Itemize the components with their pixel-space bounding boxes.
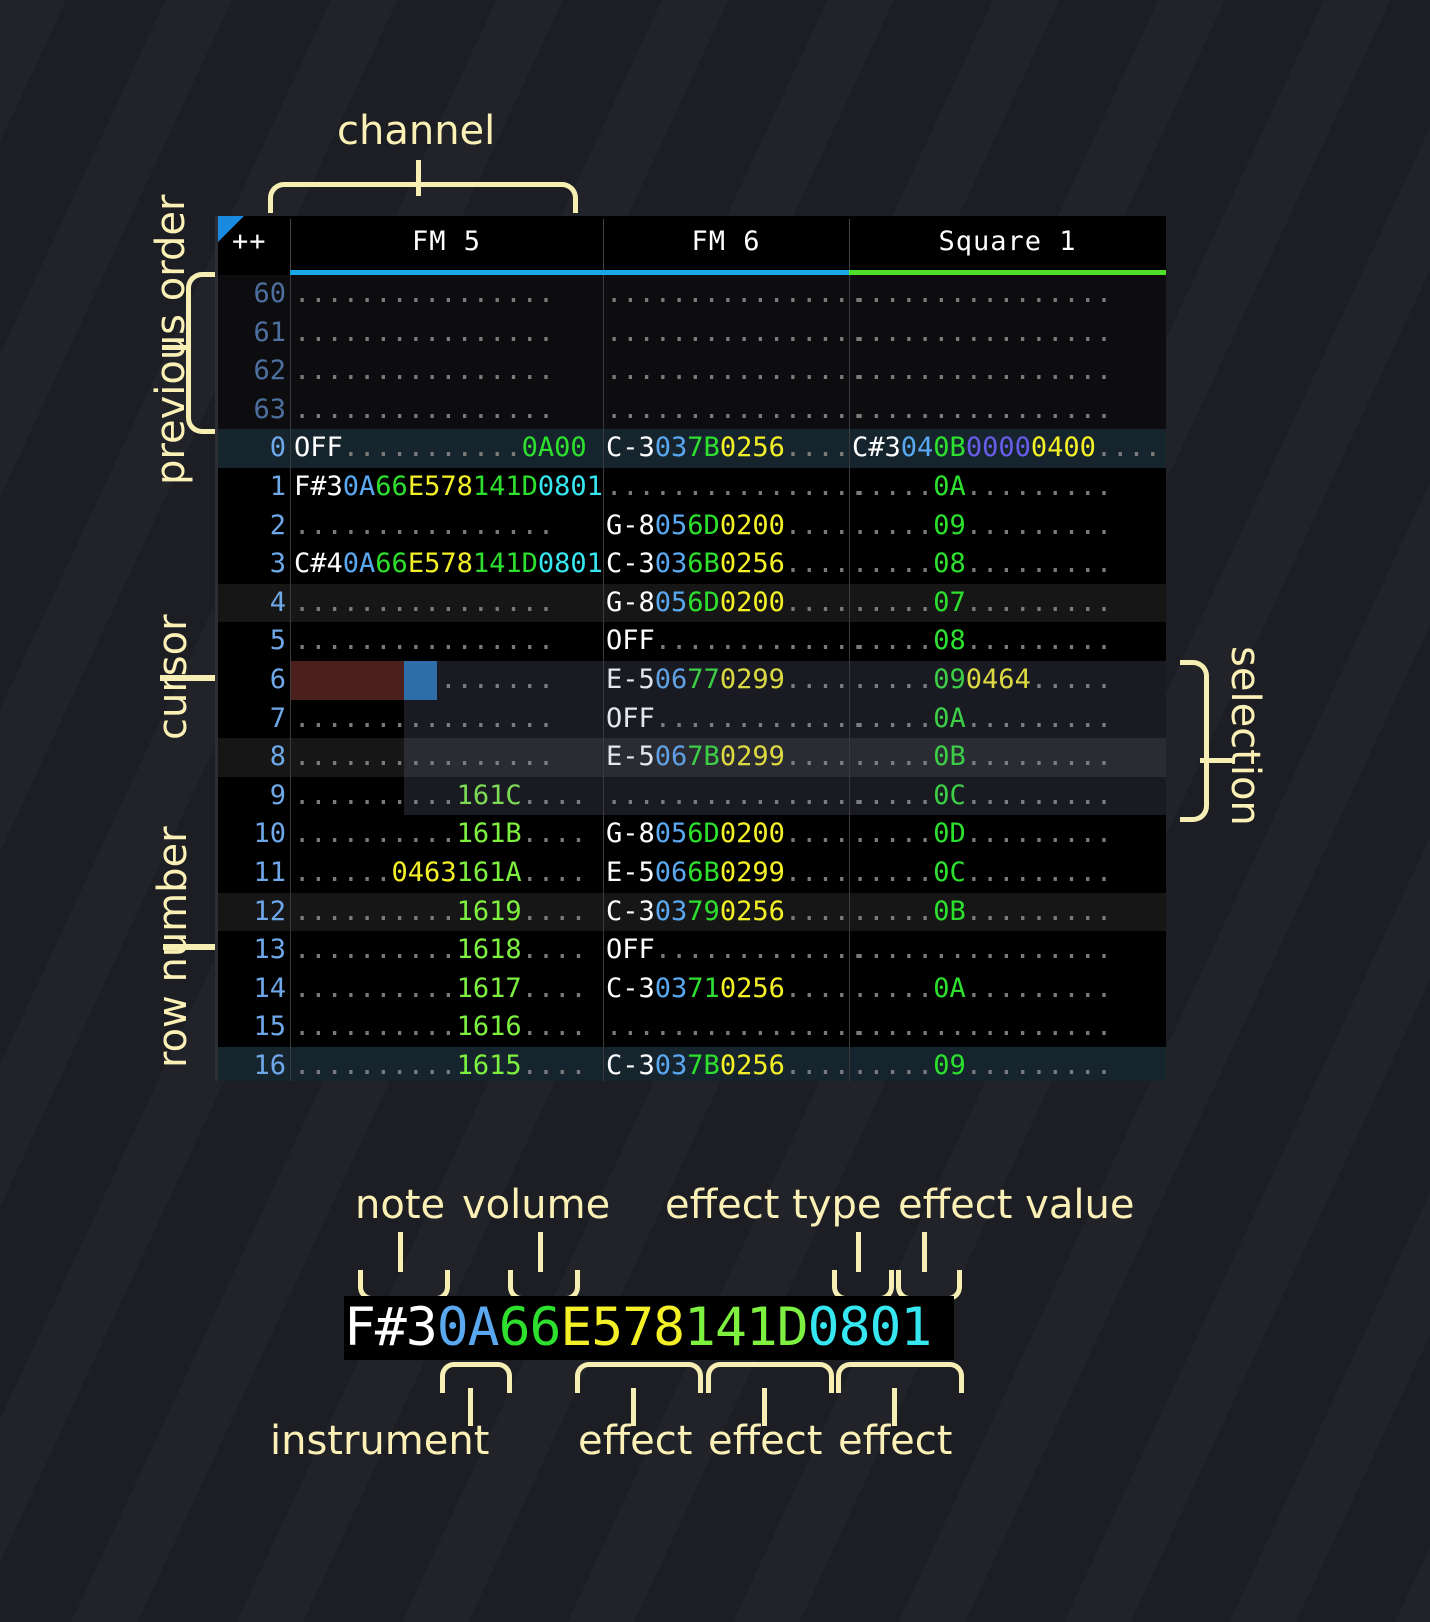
table-row[interactable]: 63......................................… (218, 391, 1166, 430)
pattern-segment: C-3 (606, 548, 655, 579)
pattern-cell-fm6[interactable]: ................ (606, 275, 866, 314)
row-number-cell: 9 (218, 777, 286, 816)
pattern-segment: 0256 (720, 896, 785, 927)
pattern-segment: 79 (687, 896, 720, 927)
pattern-cell-fm6[interactable]: ................ (606, 314, 866, 353)
pattern-cell-sq1[interactable]: .....08......... (852, 545, 1112, 584)
row-number-cell: 11 (218, 854, 286, 893)
pattern-segment: 05 (655, 587, 688, 618)
table-row[interactable]: 4................G-8056D0200.........07.… (218, 584, 1166, 623)
pattern-cell-sq1[interactable]: ................ (852, 314, 1112, 353)
pattern-segment: 6B (687, 548, 720, 579)
legend-brace-effect3 (836, 1362, 964, 1393)
legend-label-note: note (355, 1182, 445, 1228)
pattern-segment: 6D (687, 818, 720, 849)
pattern-segment: 07 (933, 587, 966, 618)
pattern-segment: ................ (852, 394, 1112, 425)
pattern-cell-fm6[interactable]: OFF............. (606, 622, 866, 661)
pattern-segment: ................ (606, 278, 866, 309)
pattern-segment: ................ (852, 355, 1112, 386)
pattern-segment: ..... (852, 471, 933, 502)
pattern-segment: .... (522, 896, 587, 927)
pattern-segment: ................ (294, 278, 554, 309)
pattern-segment: 141D (473, 548, 538, 579)
pattern-cell-fm6[interactable]: ................ (606, 1008, 866, 1047)
legend-label-effect3: effect (838, 1418, 952, 1464)
pattern-segment: .... (785, 432, 850, 463)
table-row[interactable]: 2................G-8056D0200.........09.… (218, 507, 1166, 546)
pattern-cell-fm5[interactable]: ................ (294, 314, 554, 353)
pattern-segment: 09 (933, 510, 966, 541)
pattern-segment: ..... (852, 1050, 933, 1081)
pattern-segment: ............. (655, 934, 866, 965)
pattern-segment: 0A (933, 471, 966, 502)
pattern-cell-fm5[interactable]: C#40A66E578141D0801 (294, 545, 603, 584)
pattern-segment: ................ (606, 355, 866, 386)
legend-brace-instrument (440, 1362, 512, 1393)
pattern-segment: 03 (655, 973, 688, 1004)
pattern-segment: 1619 (457, 896, 522, 927)
pattern-segment: 0256 (720, 432, 785, 463)
pattern-segment: G-8 (606, 510, 655, 541)
pattern-segment: ................ (606, 1011, 866, 1042)
pattern-cell-fm5[interactable]: ..........1618.... (294, 931, 587, 970)
pattern-segment: .......... (294, 818, 457, 849)
pattern-cell-fm6[interactable]: ................ (606, 468, 866, 507)
row-number-cell: 5 (218, 622, 286, 661)
pattern-segment: 1617 (457, 973, 522, 1004)
pattern-segment: ..... (852, 510, 933, 541)
column-separator-2 (849, 275, 850, 1081)
legend-label-instrument: instrument (270, 1418, 489, 1464)
pattern-cell-fm5[interactable]: ..........1616.... (294, 1008, 587, 1047)
pattern-segment: C-3 (606, 896, 655, 927)
pattern-cell-fm6[interactable]: C-3037B0256.... (606, 1047, 850, 1081)
table-row[interactable]: 0OFF...........0A00C-3037B0256....C#3040… (218, 429, 1166, 468)
table-row[interactable]: 12..........1619....C-303790256.........… (218, 893, 1166, 932)
selection-brace (1180, 660, 1209, 822)
pattern-cell-fm5[interactable]: ................ (294, 352, 554, 391)
pattern-segment: ......... (966, 818, 1112, 849)
pattern-cell-fm5[interactable]: ................ (294, 622, 554, 661)
legend-label-effect1: effect (578, 1418, 692, 1464)
pattern-segment: .... (522, 973, 587, 1004)
pattern-segment: 0256 (720, 1050, 785, 1081)
pattern-cell-fm6[interactable]: G-8056D0200.... (606, 815, 850, 854)
pattern-segment: 0400 (1031, 432, 1096, 463)
pattern-cell-fm5[interactable]: F#30A66E578141D0801 (294, 468, 603, 507)
pattern-cell-sq1[interactable]: .....0D......... (852, 815, 1112, 854)
pattern-segment: 0A (933, 973, 966, 1004)
pattern-cell-fm6[interactable]: E-5066B0299.... (606, 854, 850, 893)
pattern-segment: E578 (408, 548, 473, 579)
table-row[interactable]: 60......................................… (218, 275, 1166, 314)
pattern-segment: 0200 (720, 818, 785, 849)
pattern-segment: 161B (457, 818, 522, 849)
legend-segment: 66 (499, 1297, 561, 1358)
pattern-segment: .... (785, 818, 850, 849)
pattern-segment: 6D (687, 587, 720, 618)
pattern-segment: .... (522, 1050, 587, 1081)
pattern-segment: .......... (294, 1011, 457, 1042)
row-number-cell: 61 (218, 314, 286, 353)
pattern-segment: 0C (933, 857, 966, 888)
pattern-segment: G-8 (606, 818, 655, 849)
row-number-cell: 60 (218, 275, 286, 314)
channel-header-row: ++ FM 5 FM 6 Square 1 (218, 216, 1166, 274)
table-row[interactable]: 16..........1615....C-3037B0256.........… (218, 1047, 1166, 1081)
pattern-cell-fm6[interactable]: C-303790256.... (606, 893, 850, 932)
pattern-segment: 05 (655, 510, 688, 541)
pattern-cell-fm5[interactable]: ......0463161A.... (294, 854, 587, 893)
table-row[interactable]: 15..........1616........................… (218, 1008, 1166, 1047)
pattern-cell-sq1[interactable]: C#3040B00000400.... (852, 429, 1161, 468)
legend-segment: F#3 (344, 1297, 437, 1358)
pattern-cell-fm5[interactable]: ................ (294, 584, 554, 623)
column-separator-0 (290, 275, 291, 1081)
pattern-segment: ......... (966, 896, 1112, 927)
cursor-row-highlight (290, 661, 404, 700)
row-number-cell: 12 (218, 893, 286, 932)
pattern-segment: .... (522, 934, 587, 965)
row-number-cell: 13 (218, 931, 286, 970)
pattern-cell-fm6[interactable]: G-8056D0200.... (606, 507, 850, 546)
pattern-segment: C#3 (852, 432, 901, 463)
pattern-segment: .......... (294, 896, 457, 927)
pattern-segment: 0463 (392, 857, 457, 888)
row-number-cell: 10 (218, 815, 286, 854)
pattern-segment: ................ (606, 317, 866, 348)
legend-stem-effect-type (856, 1232, 861, 1272)
pattern-segment: 06 (655, 857, 688, 888)
pattern-cell-sq1[interactable]: ................ (852, 1008, 1112, 1047)
pattern-cell-sq1[interactable]: .....0A......... (852, 468, 1112, 507)
pattern-segment: OFF (294, 432, 343, 463)
pattern-cell-sq1[interactable]: .....09......... (852, 1047, 1112, 1081)
pattern-cell-fm6[interactable]: C-303710256.... (606, 970, 850, 1009)
pattern-segment: .... (785, 1050, 850, 1081)
pattern-editor[interactable]: ++ FM 5 FM 6 Square 1 60................… (215, 216, 1166, 1081)
pattern-segment: ...... (294, 857, 392, 888)
pattern-segment: .... (1096, 432, 1161, 463)
pattern-cell-fm6[interactable]: C-3036B0256.... (606, 545, 850, 584)
pattern-segment: .......... (294, 973, 457, 1004)
pattern-segment: ..... (852, 587, 933, 618)
pattern-segment: 08 (933, 548, 966, 579)
pattern-segment: C-3 (606, 1050, 655, 1081)
pattern-segment: 66 (375, 548, 408, 579)
pattern-segment: ................ (294, 394, 554, 425)
legend-label-effect-value: effect value (898, 1182, 1134, 1228)
row-number-cell: 62 (218, 352, 286, 391)
row-number-cell: 15 (218, 1008, 286, 1047)
table-row[interactable]: 61......................................… (218, 314, 1166, 353)
pattern-segment: ......... (966, 510, 1112, 541)
pattern-cell-fm5[interactable]: ..........1615.... (294, 1047, 587, 1081)
pattern-segment: C-3 (606, 432, 655, 463)
pattern-segment: F#3 (294, 471, 343, 502)
pattern-segment: ......... (966, 625, 1112, 656)
pattern-cell-fm6[interactable]: OFF............. (606, 931, 866, 970)
pattern-cell-fm5[interactable]: ..........161B.... (294, 815, 587, 854)
pattern-segment: 0B (933, 896, 966, 927)
pattern-segment: .... (785, 587, 850, 618)
pattern-cell-fm5[interactable]: ..........1619.... (294, 893, 587, 932)
pattern-segment: .... (522, 857, 587, 888)
legend-brace-effect2 (706, 1362, 834, 1393)
pattern-cell-fm5[interactable]: ................ (294, 275, 554, 314)
row-number-cell: 4 (218, 584, 286, 623)
pattern-segment: ......... (966, 471, 1112, 502)
pattern-segment: 0801 (538, 471, 603, 502)
table-row[interactable]: 11......0463161A....E-5066B0299.........… (218, 854, 1166, 893)
pattern-segment: 0299 (720, 857, 785, 888)
pattern-segment: 0B (933, 432, 966, 463)
pattern-cell-fm6[interactable]: ................ (606, 391, 866, 430)
pattern-segment: ............. (655, 625, 866, 656)
row-number-cell: 3 (218, 545, 286, 584)
row-number-cell: 0 (218, 429, 286, 468)
pattern-segment: OFF (606, 934, 655, 965)
pattern-segment: 7B (687, 432, 720, 463)
row-number-cell: 6 (218, 661, 286, 700)
pattern-segment: 0A (343, 471, 376, 502)
pattern-segment: 09 (933, 1050, 966, 1081)
pattern-cell-sq1[interactable]: .....07......... (852, 584, 1112, 623)
row-number-cell: 8 (218, 738, 286, 777)
pattern-cell-fm5[interactable]: ..........1617.... (294, 970, 587, 1009)
legend-stem-effect-value (922, 1232, 927, 1272)
row-number-cell: 7 (218, 700, 286, 739)
pattern-segment: ................ (294, 317, 554, 348)
channel-header-fm6[interactable]: FM 6 (603, 216, 849, 268)
pattern-segment: 6D (687, 510, 720, 541)
pattern-segment: ......... (966, 1050, 1112, 1081)
legend-stem-note (398, 1232, 403, 1272)
pattern-segment: ..... (852, 857, 933, 888)
pattern-segment: ................ (606, 471, 866, 502)
table-row[interactable]: 5................OFF..................08… (218, 622, 1166, 661)
pattern-cell-sq1[interactable]: .....0A......... (852, 970, 1112, 1009)
pattern-segment: 0256 (720, 548, 785, 579)
pattern-segment: 0200 (720, 587, 785, 618)
pattern-cell-sq1[interactable]: ................ (852, 352, 1112, 391)
legend-segment: E578 (560, 1297, 684, 1358)
pattern-segment: OFF (606, 625, 655, 656)
pattern-segment: 08 (933, 625, 966, 656)
pattern-cell-fm6[interactable]: C-3037B0256.... (606, 429, 850, 468)
row-number-cell: 14 (218, 970, 286, 1009)
pattern-segment: ..... (852, 548, 933, 579)
legend-pattern-cell: F#30A66E578141D0801 (344, 1296, 954, 1360)
pattern-segment: G-8 (606, 587, 655, 618)
row-number-cell: 2 (218, 507, 286, 546)
table-row[interactable]: 1F#30A66E578141D0801....................… (218, 468, 1166, 507)
pattern-segment: 0200 (720, 510, 785, 541)
pattern-cell-sq1[interactable]: ................ (852, 931, 1112, 970)
pattern-segment: 03 (655, 432, 688, 463)
pattern-segment: ................ (852, 1011, 1112, 1042)
pattern-cell-fm5[interactable]: ................ (294, 391, 554, 430)
pattern-segment: ......... (966, 973, 1112, 1004)
pattern-segment: ......... (966, 548, 1112, 579)
pattern-segment: .... (785, 548, 850, 579)
pattern-segment: 03 (655, 548, 688, 579)
pattern-segment: 03 (655, 896, 688, 927)
pattern-cell-fm5[interactable]: ................ (294, 507, 554, 546)
pattern-segment: 0000 (966, 432, 1031, 463)
pattern-segment: .... (522, 818, 587, 849)
legend-label-effect-type: effect type (665, 1182, 882, 1228)
legend-segment: 0A (437, 1297, 499, 1358)
pattern-segment: C-3 (606, 973, 655, 1004)
pattern-segment: E578 (408, 471, 473, 502)
pattern-segment: ................ (606, 394, 866, 425)
pattern-segment: ..... (852, 973, 933, 1004)
previous-order-brace (186, 272, 215, 434)
pattern-cell-sq1[interactable]: ................ (852, 275, 1112, 314)
pattern-segment: ................ (294, 625, 554, 656)
pattern-segment: ........... (343, 432, 522, 463)
pattern-cell-sq1[interactable]: .....09......... (852, 507, 1112, 546)
pattern-segment: 66 (375, 471, 408, 502)
pattern-segment: .......... (294, 934, 457, 965)
pattern-segment: 0801 (538, 548, 603, 579)
pattern-segment: ................ (852, 278, 1112, 309)
previous-order-stem (162, 345, 190, 350)
pattern-segment: 7B (687, 1050, 720, 1081)
pattern-segment: 1618 (457, 934, 522, 965)
legend-label-effect2: effect (708, 1418, 822, 1464)
pattern-segment: .... (785, 510, 850, 541)
pattern-segment: ..... (852, 818, 933, 849)
pattern-segment: .... (785, 896, 850, 927)
pattern-segment: 0A (343, 548, 376, 579)
pattern-segment: .......... (294, 1050, 457, 1081)
pattern-segment: ..... (852, 896, 933, 927)
pattern-segment: 71 (687, 973, 720, 1004)
legend-stem-volume (538, 1232, 543, 1272)
legend-segment: 141D (684, 1297, 808, 1358)
table-row[interactable]: 10..........161B....G-8056D0200.........… (218, 815, 1166, 854)
legend-label-volume: volume (462, 1182, 610, 1228)
pattern-cell-sq1[interactable]: ................ (852, 391, 1112, 430)
pattern-segment: ................ (294, 510, 554, 541)
pattern-segment: E-5 (606, 857, 655, 888)
pattern-segment: ..... (852, 625, 933, 656)
row-number-cell: 16 (218, 1047, 286, 1081)
table-row[interactable]: 13..........1618....OFF.................… (218, 931, 1166, 970)
pattern-segment: ......... (966, 857, 1112, 888)
row-number-cell: 63 (218, 391, 286, 430)
pattern-segment: ................ (294, 587, 554, 618)
pattern-segment: 1616 (457, 1011, 522, 1042)
channel-brace (268, 182, 578, 213)
order-column-header[interactable]: ++ (232, 216, 290, 268)
pattern-segment: 6B (687, 857, 720, 888)
pattern-segment: 161A (457, 857, 522, 888)
channel-header-square1[interactable]: Square 1 (849, 216, 1166, 268)
pattern-cell-sq1[interactable]: .....08......... (852, 622, 1112, 661)
selection-stem (1200, 758, 1234, 763)
pattern-segment: 1615 (457, 1050, 522, 1081)
table-row[interactable]: 62......................................… (218, 352, 1166, 391)
pattern-cell-fm6[interactable]: ................ (606, 352, 866, 391)
selection-overlay[interactable] (404, 661, 1166, 815)
pattern-segment: ................ (852, 317, 1112, 348)
column-separator-1 (603, 275, 604, 1081)
pattern-segment: .... (522, 1011, 587, 1042)
pattern-cell-sq1[interactable]: .....0C......... (852, 854, 1112, 893)
pattern-segment: .... (785, 857, 850, 888)
legend-brace-effect1 (575, 1362, 703, 1393)
pattern-segment: C#4 (294, 548, 343, 579)
table-row[interactable]: 14..........1617....C-303710256.........… (218, 970, 1166, 1009)
pattern-segment: 03 (655, 1050, 688, 1081)
annotation-selection: selection (1222, 646, 1268, 826)
pattern-segment: ................ (852, 934, 1112, 965)
pattern-segment: 0256 (720, 973, 785, 1004)
pattern-segment: 04 (901, 432, 934, 463)
row-number-cell: 1 (218, 468, 286, 507)
pattern-segment: ......... (966, 587, 1112, 618)
pattern-segment: ................ (294, 355, 554, 386)
pattern-cell-fm6[interactable]: G-8056D0200.... (606, 584, 850, 623)
pattern-cell-fm5[interactable]: OFF...........0A00 (294, 429, 587, 468)
legend-segment: 0801 (808, 1297, 932, 1358)
annotation-channel: channel (337, 108, 495, 154)
pattern-segment: 0D (933, 818, 966, 849)
pattern-segment: .... (785, 973, 850, 1004)
pattern-cell-sq1[interactable]: .....0B......... (852, 893, 1112, 932)
channel-header-fm5[interactable]: FM 5 (290, 216, 603, 268)
pattern-segment: 05 (655, 818, 688, 849)
pattern-segment: 0A00 (522, 432, 587, 463)
pattern-segment: 141D (473, 471, 538, 502)
table-row[interactable]: 3C#40A66E578141D0801C-3036B0256.........… (218, 545, 1166, 584)
